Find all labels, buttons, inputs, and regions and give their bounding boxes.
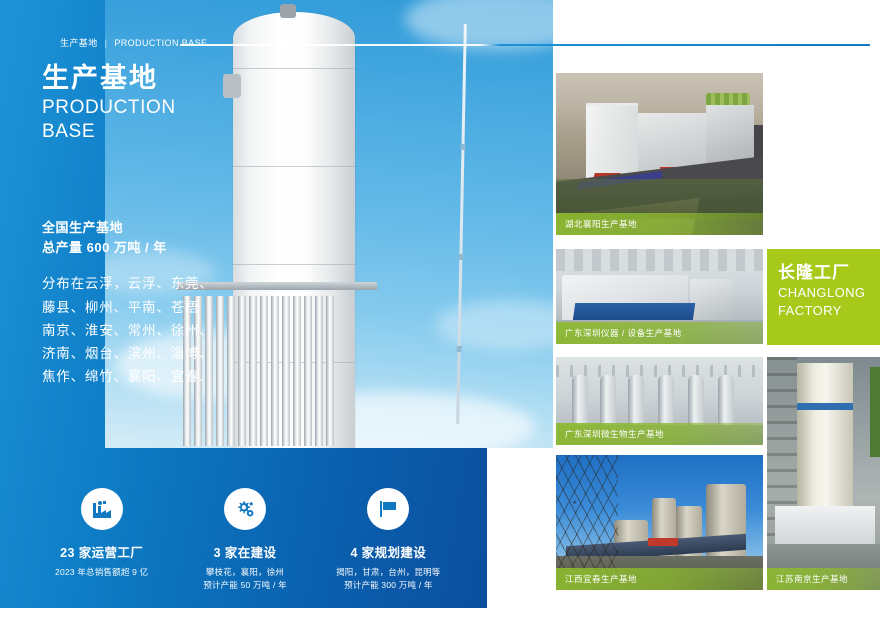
photo-hubei-xiangyang[interactable]: 湖北襄阳生产基地 [556,73,763,235]
photo-detail-vessel [600,375,616,427]
factory-icon [81,488,123,530]
photo-jiangsu-nanjing[interactable]: 江苏南京生产基地 [767,357,880,590]
photo-detail-vegetation [870,367,880,457]
stat-sub-line2: 预计产能 50 万吨 / 年 [173,579,316,592]
cloud-shape [435,300,553,350]
mast-joint [460,144,465,150]
breadcrumb-separator: | [105,38,108,48]
page-title-cn: 生产基地 [42,62,176,96]
stat-title: 4 家规划建设 [317,542,460,561]
summary-body-line2: 藤县、柳州、平南、苍梧 [42,296,282,319]
tank-top-fitting [280,4,296,18]
photo-detail-vessel [628,375,644,427]
photo-detail-tank-band [797,403,853,410]
vaporizer-fin [326,296,334,446]
summary-head-line1: 全国生产基地 [42,218,282,238]
photo-detail-vessel [658,375,674,427]
photo-caption: 湖北襄阳生产基地 [556,213,763,235]
stat-title: 23 家运营工厂 [30,542,173,561]
brand-name-en-line1: CHANGLONG [778,285,880,301]
stat-sub-line1: 攀枝花，襄阳，徐州 [173,566,316,579]
stat-under-construction: 3 家在建设 攀枝花，襄阳，徐州 预计产能 50 万吨 / 年 [173,488,316,592]
photo-detail-bare-tree [556,455,618,573]
photo-detail-wall [775,506,875,546]
mast-joint [457,346,462,352]
stat-sub-line1: 揭阳，甘肃，台州，昆明等 [317,566,460,579]
summary-body-line3: 南京、淮安、常州、徐州、 [42,319,282,342]
breadcrumb: 生产基地 | PRODUCTION BASE [60,36,207,49]
vaporizer-fin [282,296,290,446]
page-title-en-line2: BASE [42,120,176,144]
brand-name-en-line2: FACTORY [778,303,880,319]
photo-detail-building [706,105,754,163]
tank-lug [223,74,241,98]
summary-body-line4: 济南、烟台、滨州、淄博、 [42,342,282,365]
vaporizer-fin [304,296,312,446]
photo-caption: 江苏南京生产基地 [767,568,880,590]
photo-jiangxi-yichun[interactable]: 江西宜春生产基地 [556,455,763,590]
stat-sub-line1: 2023 年总销售额超 9 亿 [30,566,173,579]
vaporizer-fin [293,296,301,446]
vaporizer-fin [315,296,323,446]
mast-joint [458,254,463,260]
stats-row: 23 家运营工厂 2023 年总销售额超 9 亿 3 家在建设 攀枝花，襄阳，徐… [30,488,460,592]
page-title: 生产基地 PRODUCTION BASE [42,62,176,144]
photo-caption: 广东深圳仪器 / 设备生产基地 [556,322,763,344]
flag-icon [367,488,409,530]
breadcrumb-label-en: PRODUCTION BASE [114,38,207,48]
photo-detail-machine-bed [573,303,696,321]
photo-detail-ceiling [556,249,763,271]
brand-box-changlong-factory: 长隆工厂 CHANGLONG FACTORY [767,249,880,345]
photo-guangdong-shenzhen-instrument[interactable]: 广东深圳仪器 / 设备生产基地 [556,249,763,344]
summary-copy: 全国生产基地 总产量 600 万吨 / 年 分布在云浮，云浮、东莞、 藤县、柳州… [42,218,282,388]
production-base-page: 生产基地 | PRODUCTION BASE 生产基地 PRODUCTION B… [0,0,880,625]
photo-detail-machine [690,279,732,325]
summary-body-line1: 分布在云浮，云浮、东莞、 [42,272,282,295]
header-divider-line [180,44,870,46]
brand-name-cn: 长隆工厂 [778,263,880,283]
gears-icon [224,488,266,530]
photo-detail-vessel [688,375,704,427]
photo-caption: 江西宜春生产基地 [556,568,763,590]
cloud-shape [405,0,553,50]
photo-detail-vessel [572,375,588,427]
summary-head-line2: 总产量 600 万吨 / 年 [42,238,282,258]
tank-band [233,166,355,167]
photo-detail-vessel [718,375,734,427]
stat-sub-line2: 预计产能 300 万吨 / 年 [317,579,460,592]
photo-detail-building [586,103,638,180]
photo-guangdong-shenzhen-microbio[interactable]: 广东深圳微生物生产基地 [556,357,763,445]
photo-detail-sign [648,538,678,546]
breadcrumb-label-cn: 生产基地 [60,36,98,49]
stat-operating-factories: 23 家运营工厂 2023 年总销售额超 9 亿 [30,488,173,592]
page-title-en-line1: PRODUCTION [42,96,176,120]
antenna-mast [456,24,467,424]
photo-caption: 广东深圳微生物生产基地 [556,423,763,445]
stat-title: 3 家在建设 [173,542,316,561]
tank-band [233,68,355,69]
stat-planned-construction: 4 家规划建设 揭阳，甘肃，台州，昆明等 预计产能 300 万吨 / 年 [317,488,460,592]
summary-body-line5: 焦作、绵竹、襄阳、宜春. [42,365,282,388]
